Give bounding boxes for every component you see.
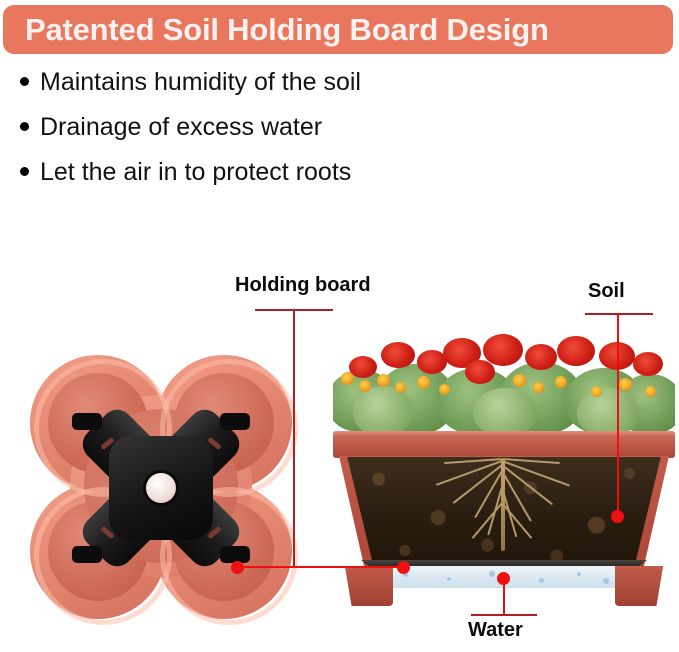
list-item: Drainage of excess water [12,111,572,143]
water-bubble [603,578,609,584]
soil-leader-vertical [617,313,619,516]
flower-foliage-group [333,330,675,436]
water-bubble [539,578,544,583]
holding-board-leader-vertical [293,309,295,567]
red-flower [483,334,523,366]
board-center-hole [146,473,176,503]
yellow-flower [395,382,406,393]
yellow-flower [341,372,354,385]
callout-dot-holding-board-left [231,561,244,574]
product-diagram: Holding board Soil Water [0,248,679,652]
leaf-cluster [353,386,413,436]
header-banner: Patented Soil Holding Board Design [3,5,673,54]
red-flower [381,342,415,368]
yellow-flower [591,386,602,397]
yellow-flower [645,386,656,397]
yellow-flower [359,380,371,392]
list-item: Let the air in to protect roots [12,156,572,188]
label-holding-board: Holding board [235,274,371,297]
bullet-dot-icon [20,77,29,86]
yellow-flower [439,384,450,395]
feature-list: Maintains humidity of the soil Drainage … [12,66,572,201]
board-foot [72,413,102,430]
water-leader-vertical [503,578,505,614]
yellow-flower [377,374,390,387]
red-flower [557,336,595,366]
yellow-flower [555,376,567,388]
water-bubble [489,571,495,577]
pot-rim [333,431,675,458]
feature-text: Let the air in to protect roots [40,156,351,188]
red-flower [633,352,663,376]
bullet-dot-icon [20,167,29,176]
leaf-cluster [577,388,639,436]
red-flower [525,344,557,370]
page-title: Patented Soil Holding Board Design [25,12,549,48]
pot-rim-top-edge [333,431,675,437]
leaf-cluster [473,388,537,436]
planter-body-shape [10,343,310,638]
bullet-dot-icon [20,122,29,131]
yellow-flower [513,374,526,387]
feature-text: Drainage of excess water [40,111,322,143]
yellow-flower [619,378,632,391]
callout-dot-holding-board-right [397,561,410,574]
board-foot [72,546,102,563]
feature-text: Maintains humidity of the soil [40,66,361,98]
pot-foot [337,566,393,606]
holding-board-leader-horizontal [238,566,405,568]
pot-foot [615,566,671,606]
water-bubble [577,572,581,576]
planter-top-view-image [10,343,310,638]
holding-board-part [58,385,264,591]
soil-leader-top [585,313,653,315]
board-foot [220,413,250,430]
yellow-flower [417,376,430,389]
label-water: Water [468,619,523,642]
yellow-flower [533,382,544,393]
label-soil: Soil [588,280,625,303]
water-leader-bottom [471,614,537,616]
callout-dot-soil [611,510,624,523]
list-item: Maintains humidity of the soil [12,66,572,98]
product-feature-graphic: Patented Soil Holding Board Design Maint… [0,0,679,652]
water-bubble [447,577,451,581]
red-flower [465,360,495,384]
